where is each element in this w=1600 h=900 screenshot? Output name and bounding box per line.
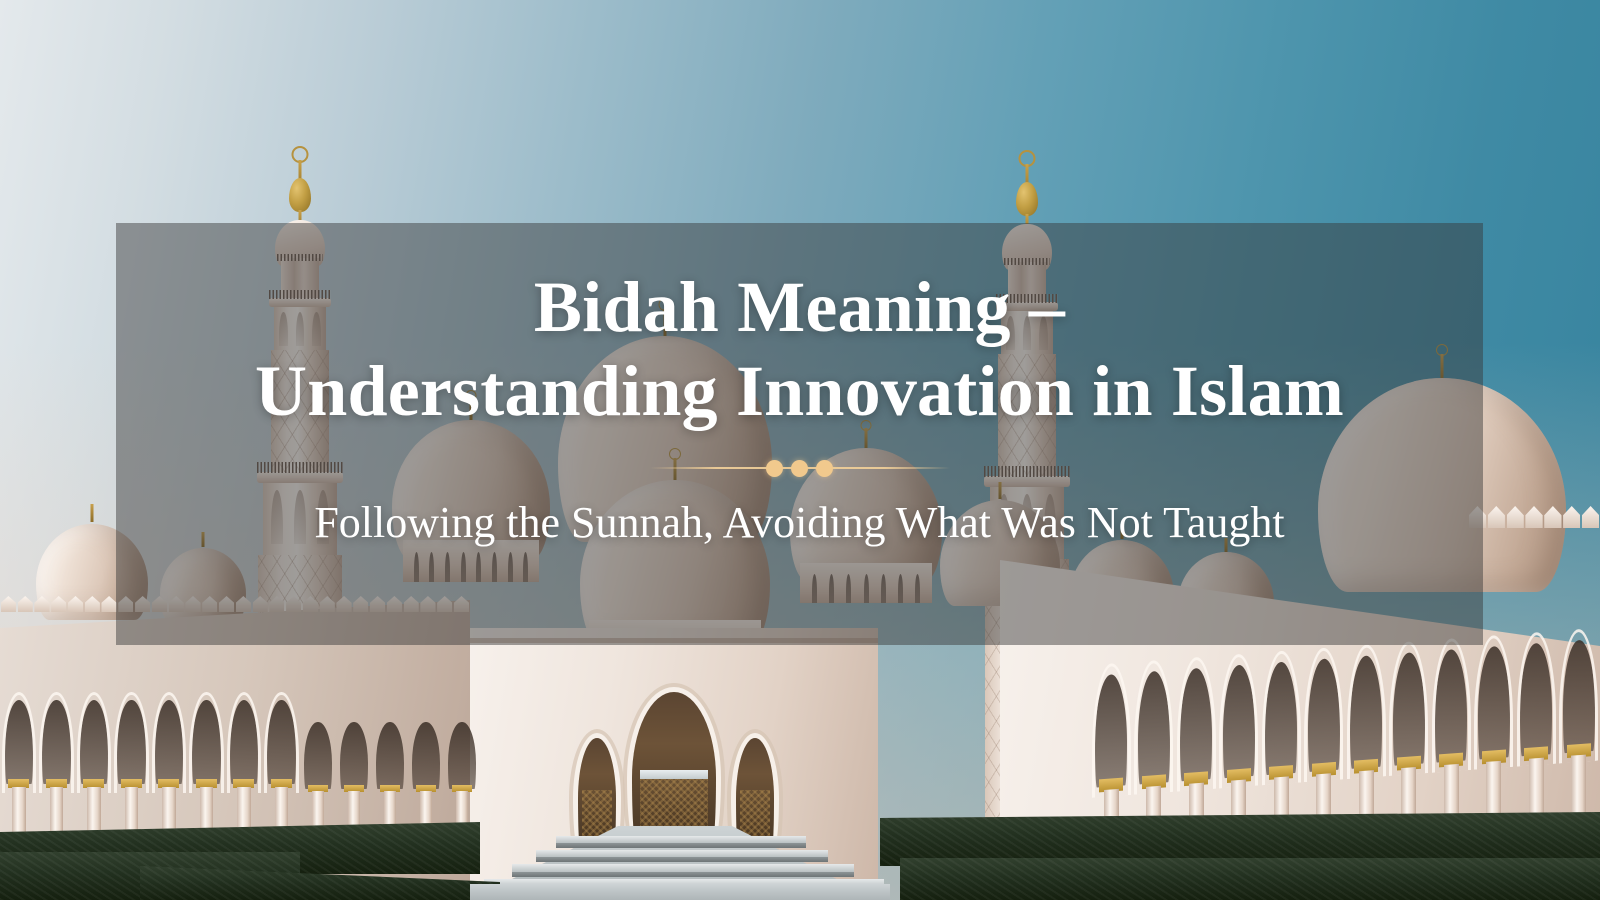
left-colonnade-recessed (300, 722, 480, 830)
right-wing-merlons (1468, 506, 1600, 528)
hero-banner: Bidah Meaning – Understanding Innovation… (0, 0, 1600, 900)
decorative-divider (650, 457, 950, 479)
page-title-line-2: Understanding Innovation in Islam (255, 351, 1344, 431)
divider-dot-icon (816, 460, 833, 477)
divider-dots (766, 460, 833, 477)
hero-content: Bidah Meaning – Understanding Innovation… (116, 223, 1483, 645)
page-subtitle: Following the Sunnah, Avoiding What Was … (314, 495, 1284, 550)
hedge-right-front (900, 858, 1600, 900)
page-title-line-1: Bidah Meaning – (534, 267, 1065, 347)
foreground-pavement (470, 884, 890, 900)
page-title: Bidah Meaning – Understanding Innovation… (255, 265, 1344, 433)
divider-dot-icon (766, 460, 783, 477)
divider-dot-icon (791, 460, 808, 477)
left-colonnade (0, 700, 300, 836)
